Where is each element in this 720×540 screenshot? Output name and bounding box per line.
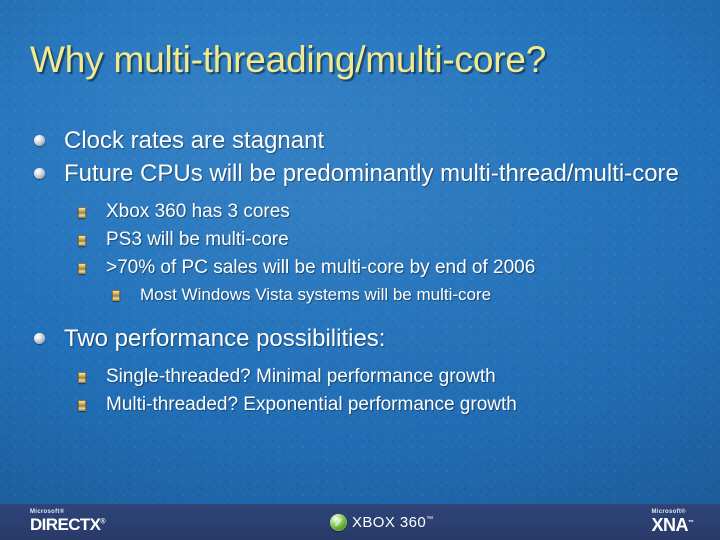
- bullet-item-level1: Two performance possibilities:: [34, 324, 694, 353]
- bullet-text: Two performance possibilities:: [64, 324, 694, 353]
- bullet-text: PS3 will be multi-core: [106, 226, 289, 253]
- xna-trademark-mark: ™: [688, 520, 694, 526]
- sphere-bullet-icon: [34, 324, 64, 344]
- directx-logo-wordmark: DIRECTX®: [30, 516, 106, 533]
- xna-logo-name: XNA: [651, 515, 688, 535]
- chip-bullet-icon: [78, 198, 106, 218]
- directx-logo-name: DIRECTX: [30, 515, 100, 534]
- chip-bullet-icon: [78, 254, 106, 274]
- chip-bullet-icon: [112, 282, 140, 301]
- xbox360-trademark-mark: ™: [426, 516, 433, 523]
- presentation-slide: Why multi-threading/multi-core? Clock ra…: [0, 0, 720, 540]
- xna-logo: Microsoft® XNA™: [651, 509, 694, 534]
- xbox360-wordmark: XBOX 360™: [352, 515, 433, 530]
- chip-bullet-icon: [78, 226, 106, 246]
- slide-body: Clock rates are stagnant Future CPUs wil…: [34, 126, 694, 419]
- xbox-orb-icon: [330, 514, 347, 531]
- bullet-item-level2: Xbox 360 has 3 cores: [34, 198, 694, 225]
- bullet-item-level1: Future CPUs will be predominantly multi-…: [34, 159, 694, 188]
- chip-bullet-icon: [78, 363, 106, 383]
- sphere-bullet-icon: [34, 159, 64, 179]
- bullet-text: Xbox 360 has 3 cores: [106, 198, 290, 225]
- bullet-text: Future CPUs will be predominantly multi-…: [64, 159, 694, 188]
- directx-logo: Microsoft® DIRECTX®: [30, 509, 106, 533]
- slide-title: Why multi-threading/multi-core?: [30, 38, 690, 82]
- slide-footer: Microsoft® DIRECTX® XBOX 360™ Microsoft®…: [0, 504, 720, 540]
- chip-bullet-icon: [78, 391, 106, 411]
- bullet-item-level2: Single-threaded? Minimal performance gro…: [34, 363, 694, 390]
- directx-registered-mark: ®: [100, 518, 105, 525]
- bullet-item-level1: Clock rates are stagnant: [34, 126, 694, 155]
- bullet-text: Clock rates are stagnant: [64, 126, 694, 155]
- bullet-text: Most Windows Vista systems will be multi…: [140, 282, 491, 308]
- xbox360-logo: XBOX 360™: [330, 514, 433, 531]
- bullet-text: >70% of PC sales will be multi-core by e…: [106, 254, 535, 281]
- xbox360-logo-name: XBOX 360: [352, 514, 426, 531]
- bullet-item-level2: PS3 will be multi-core: [34, 226, 694, 253]
- bullet-item-level2: Multi-threaded? Exponential performance …: [34, 391, 694, 418]
- bullet-text: Single-threaded? Minimal performance gro…: [106, 363, 496, 390]
- xna-logo-wordmark: XNA™: [651, 516, 694, 534]
- bullet-item-level2: >70% of PC sales will be multi-core by e…: [34, 254, 694, 281]
- sphere-bullet-icon: [34, 126, 64, 146]
- bullet-text: Multi-threaded? Exponential performance …: [106, 391, 517, 418]
- bullet-item-level3: Most Windows Vista systems will be multi…: [34, 282, 694, 308]
